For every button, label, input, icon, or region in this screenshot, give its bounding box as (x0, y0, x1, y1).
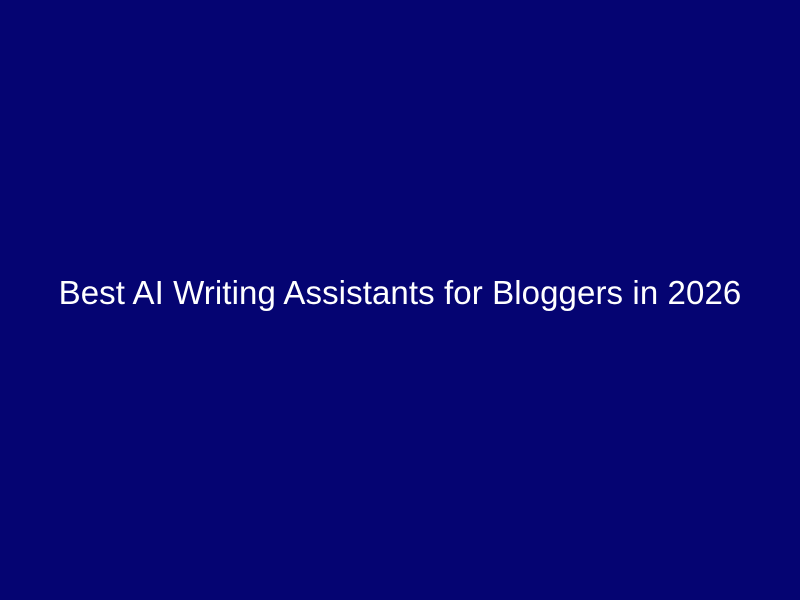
banner-title: Best AI Writing Assistants for Bloggers … (0, 273, 800, 313)
banner-graphic: Best AI Writing Assistants for Bloggers … (0, 0, 800, 600)
